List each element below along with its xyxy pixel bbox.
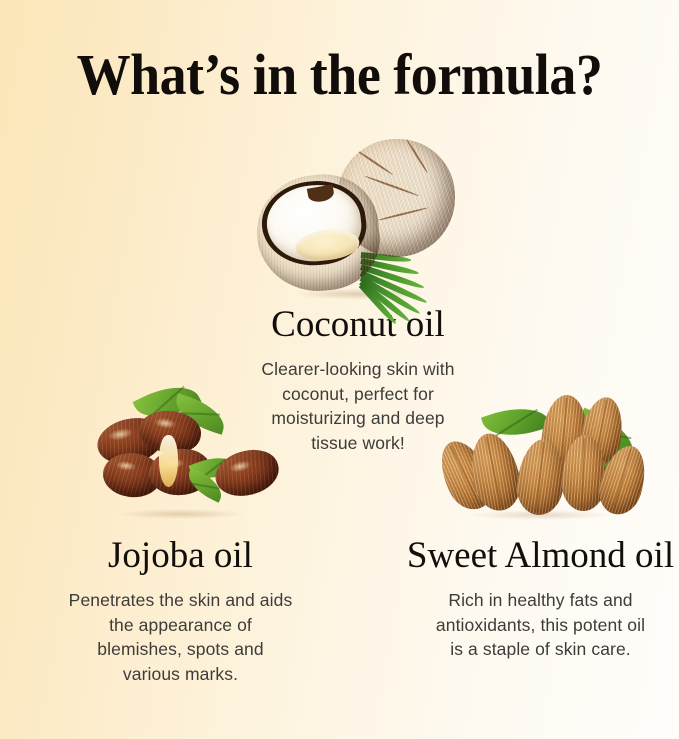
- infographic-page: What’s in the formula?: [0, 0, 679, 739]
- half-coconut: [251, 169, 384, 297]
- almond-illustration: [426, 383, 656, 523]
- description-line: Clearer-looking skin with: [193, 357, 523, 382]
- ingredient-description-jojoba: Penetrates the skin and aids the appeara…: [18, 588, 343, 686]
- description-line: blemishes, spots and: [18, 637, 343, 662]
- ingredient-name-almond: Sweet Almond oil: [378, 535, 679, 577]
- almond-nut: [514, 437, 568, 517]
- coconut-milk: [294, 227, 361, 264]
- description-line: Rich in healthy fats and: [378, 588, 679, 613]
- description-line: Penetrates the skin and aids: [18, 588, 343, 613]
- description-line: the appearance of: [18, 613, 343, 638]
- description-line: various marks.: [18, 662, 343, 687]
- ingredient-name-coconut: Coconut oil: [193, 304, 523, 346]
- jojoba-illustration: [81, 383, 281, 523]
- ingredient-name-jojoba: Jojoba oil: [18, 535, 343, 577]
- ingredient-section-jojoba: Jojoba oil Penetrates the skin and aids …: [18, 383, 343, 686]
- ingredient-section-almond: Sweet Almond oil Rich in healthy fats an…: [378, 383, 679, 662]
- description-line: antioxidants, this potent oil: [378, 613, 679, 638]
- jojoba-oil-drip: [159, 435, 178, 487]
- jojoba-shadow: [93, 507, 269, 521]
- ingredient-description-almond: Rich in healthy fats and antioxidants, t…: [378, 588, 679, 662]
- coconut-illustration: [253, 135, 463, 300]
- page-title: What’s in the formula?: [24, 44, 655, 106]
- jojoba-seed: [210, 444, 283, 502]
- description-line: is a staple of skin care.: [378, 637, 679, 662]
